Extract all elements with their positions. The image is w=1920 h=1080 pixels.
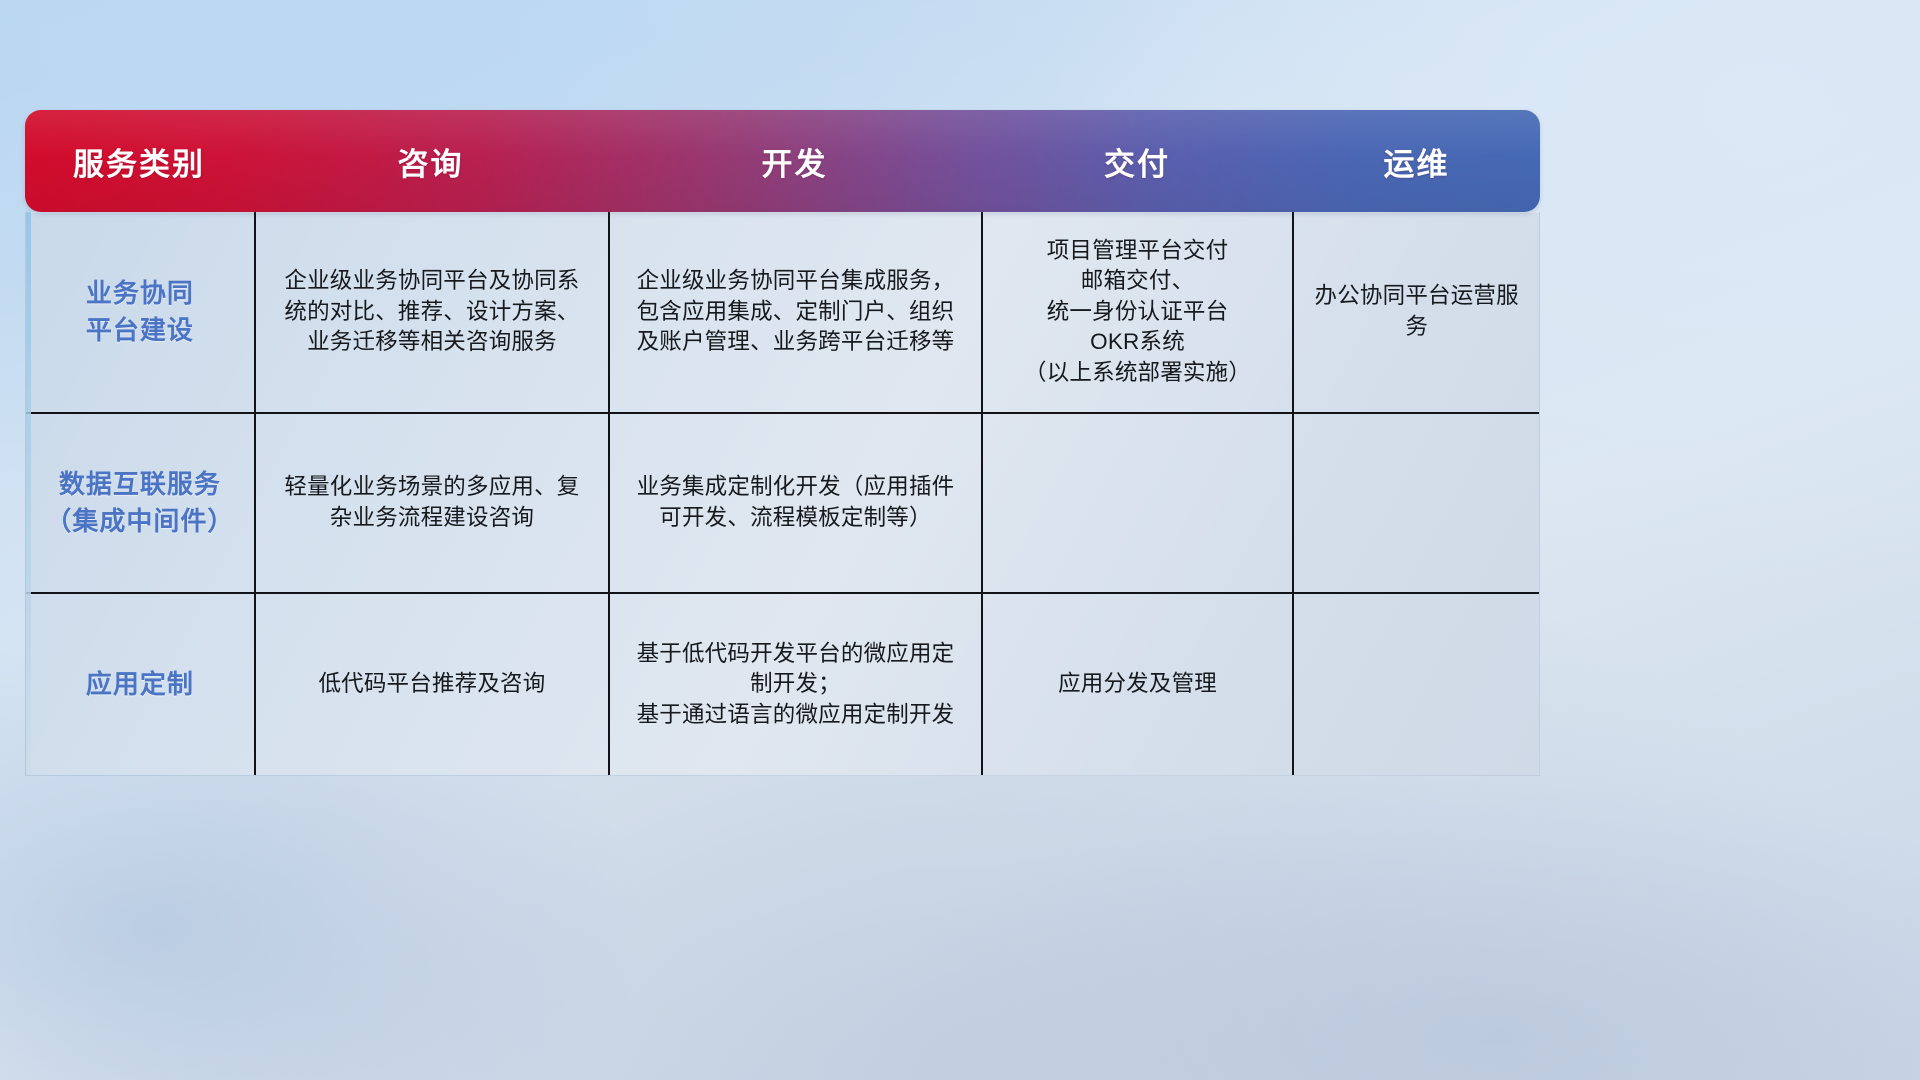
header-cell-delivery: 交付 bbox=[981, 110, 1293, 212]
cell-operations bbox=[1292, 594, 1539, 775]
header-label-development: 开发 bbox=[762, 139, 828, 184]
header-label-delivery: 交付 bbox=[1104, 139, 1170, 184]
header-cell-development: 开发 bbox=[608, 110, 981, 212]
table-body: 业务协同 平台建设 企业级业务协同平台及协同系 统的对比、推荐、设计方案、 业务… bbox=[25, 212, 1540, 776]
cell-operations bbox=[1292, 414, 1539, 592]
table-row: 数据互联服务 （集成中间件） 轻量化业务场景的多应用、复 杂业务流程建设咨询 业… bbox=[26, 412, 1539, 592]
cell-consulting: 轻量化业务场景的多应用、复 杂业务流程建设咨询 bbox=[254, 414, 609, 592]
cell-delivery: 项目管理平台交付 邮箱交付、 统一身份认证平台 OKR系统 （以上系统部署实施） bbox=[981, 212, 1293, 412]
cell-consulting: 企业级业务协同平台及协同系 统的对比、推荐、设计方案、 业务迁移等相关咨询服务 bbox=[254, 212, 609, 412]
row-category-label: 数据互联服务 （集成中间件） bbox=[26, 414, 254, 592]
cell-delivery: 应用分发及管理 bbox=[981, 594, 1293, 775]
table-row: 应用定制 低代码平台推荐及咨询 基于低代码开发平台的微应用定 制开发； 基于通过… bbox=[26, 592, 1539, 775]
cell-development: 业务集成定制化开发（应用插件 可开发、流程模板定制等） bbox=[608, 414, 981, 592]
table-header-row: 服务类别 咨询 开发 交付 运维 bbox=[25, 110, 1540, 212]
header-cell-consulting: 咨询 bbox=[253, 110, 608, 212]
header-label-operations: 运维 bbox=[1384, 139, 1450, 184]
header-cell-operations: 运维 bbox=[1293, 110, 1540, 212]
service-matrix-table: 服务类别 咨询 开发 交付 运维 业务协同 平台建设 企业级业务协同平台及协同系… bbox=[25, 110, 1540, 775]
cell-operations: 办公协同平台运营服务 bbox=[1292, 212, 1539, 412]
header-cell-service-category: 服务类别 bbox=[25, 110, 253, 212]
header-label-service-category: 服务类别 bbox=[73, 139, 205, 184]
cell-development: 企业级业务协同平台集成服务， 包含应用集成、定制门户、组织 及账户管理、业务跨平… bbox=[608, 212, 981, 412]
row-category-label: 应用定制 bbox=[26, 594, 254, 775]
table-row: 业务协同 平台建设 企业级业务协同平台及协同系 统的对比、推荐、设计方案、 业务… bbox=[26, 212, 1539, 412]
row-category-label: 业务协同 平台建设 bbox=[26, 212, 254, 412]
header-label-consulting: 咨询 bbox=[398, 139, 464, 184]
cell-consulting: 低代码平台推荐及咨询 bbox=[254, 594, 609, 775]
cell-delivery bbox=[981, 414, 1293, 592]
cell-development: 基于低代码开发平台的微应用定 制开发； 基于通过语言的微应用定制开发 bbox=[608, 594, 981, 775]
